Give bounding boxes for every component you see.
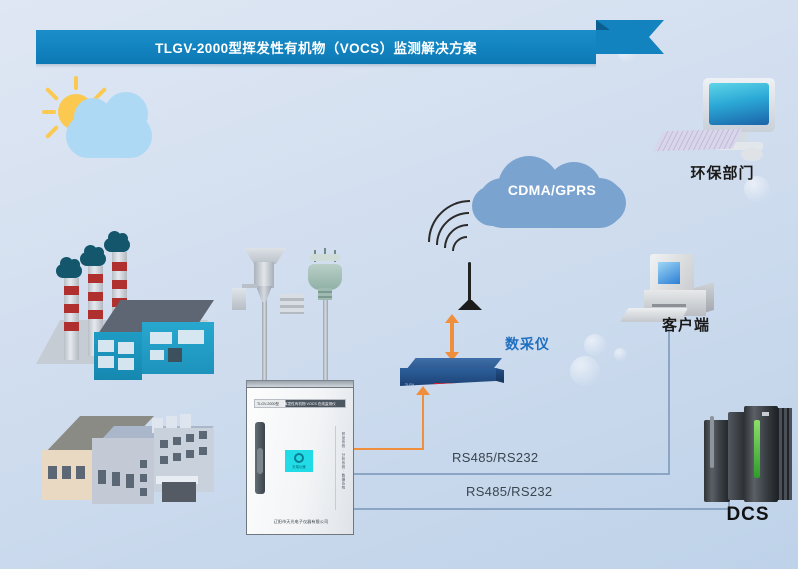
sensor-fins <box>280 294 304 314</box>
stack-band <box>88 310 103 319</box>
factory-window <box>150 350 164 360</box>
sun-ray <box>45 125 59 139</box>
building-main <box>92 438 154 504</box>
building-door <box>162 482 196 502</box>
smoke-cloud <box>56 264 82 278</box>
cabinet-to-client-line-v <box>668 330 670 474</box>
server-rack <box>704 420 730 502</box>
factory-window <box>118 342 134 354</box>
factory-window <box>98 340 114 352</box>
sun-ray <box>45 87 59 101</box>
decorative-bubble <box>584 334 606 356</box>
stack-band <box>64 286 79 295</box>
pc-drive-slot <box>652 304 686 307</box>
brand-ring-icon <box>294 453 304 463</box>
sun-ray <box>74 76 78 90</box>
brand-name: 天瑞仪器 <box>292 464 306 469</box>
sampler-pump-box <box>232 288 246 310</box>
network-cloud-label: CDMA/GPRS <box>472 182 632 198</box>
weather-sensor-head <box>308 264 342 290</box>
building-window <box>160 440 168 448</box>
client-label: 客户端 <box>662 314 772 335</box>
weather-sensor-stem <box>318 288 332 300</box>
banner-ribbon-fold <box>596 20 610 30</box>
rack-slot <box>710 416 714 468</box>
mouse-icon <box>741 148 763 161</box>
connection-label-client: RS485/RS232 <box>452 450 538 465</box>
building-window <box>173 453 181 461</box>
logger-side <box>496 368 504 383</box>
dcs-servers: DCS <box>700 398 796 538</box>
logger-label: 数采仪 <box>505 334 550 354</box>
epa-label: 环保部门 <box>655 162 790 183</box>
factory-window <box>178 330 204 344</box>
logger-led <box>461 390 464 393</box>
cloud-icon <box>66 114 152 158</box>
antenna-base <box>458 300 482 310</box>
sampler-mast <box>262 294 267 390</box>
client-workstation: 客户端 <box>622 252 762 344</box>
stack-band <box>64 304 79 313</box>
factory-window <box>118 358 134 370</box>
building-window <box>62 466 71 479</box>
cabinet-to-logger-line-h <box>352 448 424 450</box>
logger-led <box>456 390 459 393</box>
cabinet-to-logger-line-v <box>422 394 424 450</box>
connection-label-dcs: RS485/RS232 <box>466 484 552 499</box>
monitor-screen <box>709 83 769 125</box>
dcs-label: DCS <box>700 504 796 526</box>
building-window <box>173 437 181 445</box>
logger-uplink-arrow-shaft <box>450 322 454 356</box>
smoke-cloud <box>104 238 130 252</box>
logger-uplink-arrow-up <box>445 314 459 323</box>
cabinet-to-dcs-line-h <box>352 508 729 510</box>
cabinet-desc: 挥发性有机物 VOCS 在线监测仪 <box>279 402 336 406</box>
keyboard-icon <box>653 129 742 152</box>
rack-indicator <box>762 412 769 416</box>
factory-window <box>98 356 114 368</box>
logger-port <box>442 389 449 393</box>
page-title: TLGV-2000型挥发性有机物（VOCS）监测解决方案 <box>155 37 477 57</box>
logger-led <box>484 390 487 393</box>
cabinet-handle[interactable] <box>255 422 265 494</box>
sampler-cone <box>256 286 272 302</box>
stack-band <box>88 292 103 301</box>
server-rack <box>744 406 778 502</box>
building-window <box>186 434 194 442</box>
logger-led <box>466 390 469 393</box>
smokestack <box>64 278 79 360</box>
sun-cloud-icon <box>14 76 154 172</box>
stack-band <box>88 274 103 283</box>
building-window <box>160 456 168 464</box>
rack-status-led <box>754 420 760 478</box>
building-window <box>76 466 85 479</box>
building-window <box>98 470 106 484</box>
factory-door <box>168 348 182 362</box>
cabinet-model: TLGV-2000型 <box>255 402 279 406</box>
cabinet-footer-text: 辽阳市天光电子仪器有限公司 <box>247 519 355 525</box>
building-window <box>48 466 57 479</box>
crt-monitor-screen <box>658 262 680 284</box>
building-window <box>199 431 207 439</box>
weather-sensor-cap <box>310 254 340 261</box>
building-window <box>140 488 147 496</box>
stack-band <box>112 262 127 271</box>
cabinet-side-text: 样品系统 · 分析系统 · 数据系统 <box>339 432 346 506</box>
factory-window <box>150 332 172 344</box>
cabinet-brand-badge: 天瑞仪器 <box>285 450 313 472</box>
sun-ray <box>42 110 56 114</box>
data-acquisition-device[interactable]: TLGV <box>400 358 504 392</box>
banner-bar: TLGV-2000型挥发性有机物（VOCS）监测解决方案 <box>36 30 596 64</box>
logger-brand: TLGV <box>405 383 414 387</box>
decorative-bubble <box>570 356 600 386</box>
logger-port <box>432 389 439 393</box>
epa-workstation: 环保部门 <box>655 78 790 188</box>
decorative-bubble <box>614 348 627 361</box>
cabinet-title-plate: TLGV-2000型挥发性有机物 VOCS 在线监测仪 <box>254 399 346 408</box>
cabinet-to-client-line-h <box>352 473 670 475</box>
vocs-monitoring-solution-diagram: TLGV-2000型挥发性有机物（VOCS）监测解决方案 CDMA/GPRS <box>0 0 798 569</box>
factory-side-wall <box>142 322 214 374</box>
vocs-analyzer-cabinet[interactable]: TLGV-2000型挥发性有机物 VOCS 在线监测仪 天瑞仪器 样品系统 · … <box>246 380 354 535</box>
factory-plant <box>24 222 220 382</box>
logger-led <box>478 390 481 393</box>
secondary-building <box>26 404 216 516</box>
cabinet-body: TLGV-2000型挥发性有机物 VOCS 在线监测仪 天瑞仪器 样品系统 · … <box>246 387 354 535</box>
logger-stripe <box>434 383 482 386</box>
building-window <box>199 447 207 455</box>
logger-front-panel: TLGV <box>400 368 496 386</box>
building-window <box>126 474 134 488</box>
cabinet-divider <box>335 426 336 510</box>
building-window <box>112 472 120 486</box>
weather-sensor-mast <box>323 294 328 390</box>
smoke-cloud <box>80 252 106 266</box>
building-window <box>140 460 147 468</box>
stack-band <box>112 280 127 289</box>
sampling-poles <box>230 244 350 390</box>
building-window <box>186 450 194 458</box>
roof-vent <box>180 414 191 429</box>
stack-band <box>64 322 79 331</box>
factory-front-wall <box>94 332 142 380</box>
building-window <box>140 474 147 482</box>
building-wing <box>42 450 94 500</box>
banner-shadow <box>36 64 596 68</box>
